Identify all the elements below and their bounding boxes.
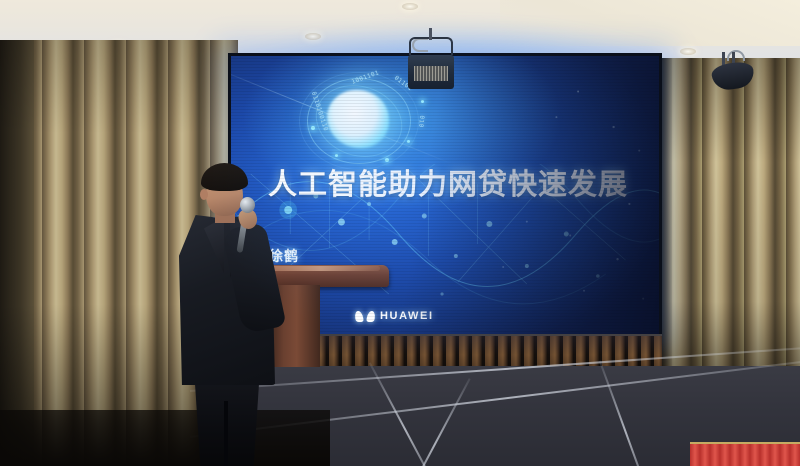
stage-light-icon [404, 34, 464, 96]
downlight-icon [305, 33, 321, 40]
stage-panel-seam [399, 378, 471, 466]
presentation-photo-scene: 1001101 0110100110 01101 010 [0, 0, 800, 466]
presenter-leg-gap [224, 401, 228, 466]
presenter [168, 163, 290, 466]
wall-speaker-hook [727, 50, 745, 61]
stage-panel-seam [599, 360, 652, 466]
curtain-right-shading [660, 58, 800, 406]
stage-light-grill [414, 66, 448, 81]
presenter-ear [200, 189, 208, 200]
microphone-icon [240, 197, 255, 213]
downlight-icon [402, 3, 418, 10]
presenter-hair [201, 163, 248, 191]
stage-skirt [690, 442, 800, 466]
downlight-icon [680, 48, 696, 55]
stage-light-stem [429, 28, 432, 40]
